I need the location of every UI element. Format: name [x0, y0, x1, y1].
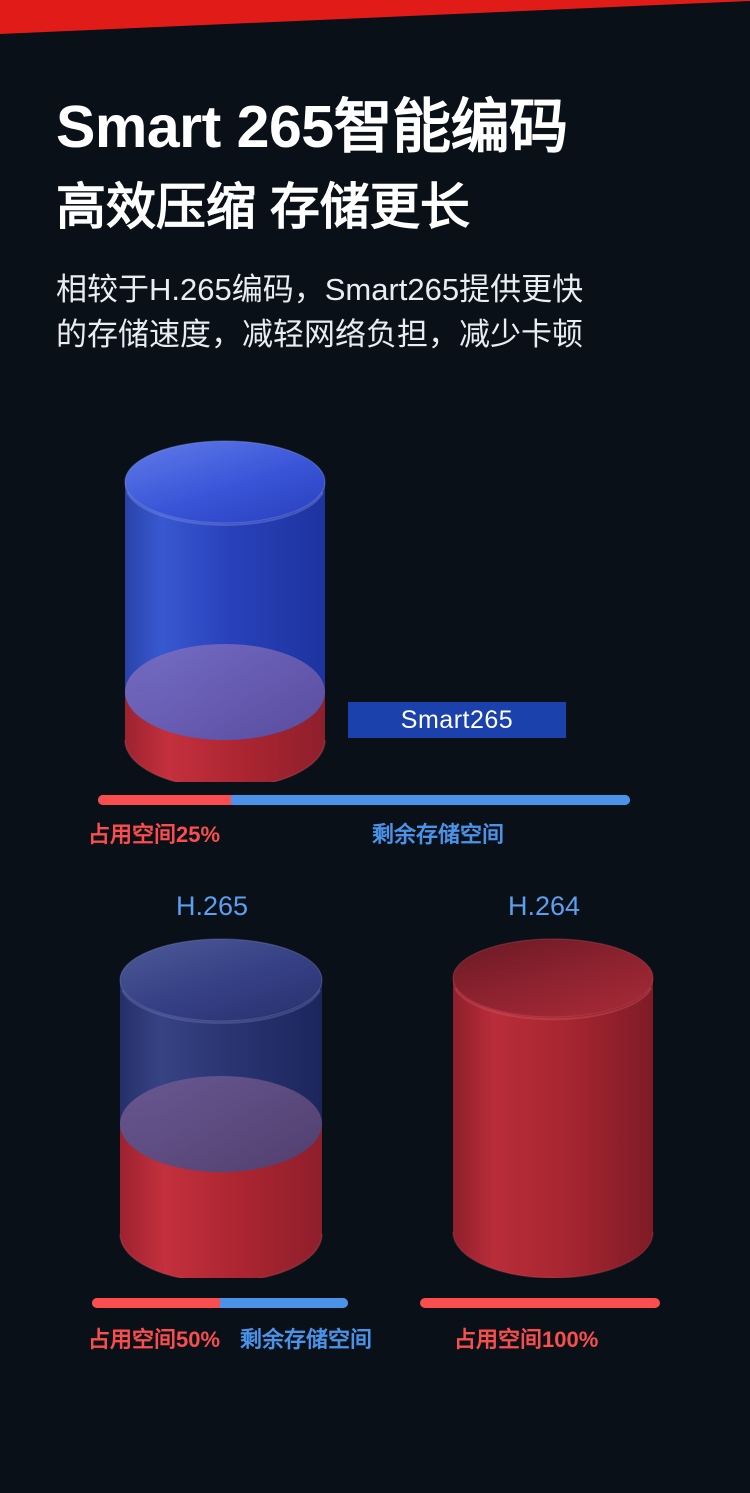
caption-used-h264: 占用空间100%: [454, 1329, 598, 1351]
caption-used-smart265: 占用空间25%: [88, 824, 220, 846]
promo-page: Smart 265智能编码 高效压缩 存储更长 相较于H.265编码，Smart…: [0, 0, 750, 1493]
progress-segment-free: [220, 1298, 348, 1308]
cylinder-h265: [118, 938, 324, 1278]
progress-segment-used: [98, 795, 231, 805]
progress-segment-used: [92, 1298, 220, 1308]
page-description: 相较于H.265编码，Smart265提供更快 的存储速度，减轻网络负担，减少卡…: [56, 268, 706, 358]
caption-free-h265: 剩余存储空间: [240, 1329, 372, 1351]
progress-bar-smart265: [98, 795, 630, 805]
label-h265: H.265: [176, 893, 248, 920]
badge-smart265: Smart265: [348, 702, 566, 738]
progress-bar-h265: [92, 1298, 348, 1308]
badge-smart265-label: Smart265: [401, 706, 513, 735]
caption-used-h265: 占用空间50%: [88, 1329, 220, 1351]
page-subtitle: 高效压缩 存储更长: [56, 182, 470, 232]
progress-segment-free: [231, 795, 630, 805]
progress-segment-used: [420, 1298, 660, 1308]
cylinder-h264: [452, 938, 654, 1278]
description-line-2: 的存储速度，减轻网络负担，减少卡顿: [56, 313, 706, 358]
top-red-banner: [0, 0, 750, 34]
caption-free-smart265: 剩余存储空间: [372, 824, 504, 846]
page-title: Smart 265智能编码: [56, 98, 568, 157]
label-h264: H.264: [508, 893, 580, 920]
description-line-1: 相较于H.265编码，Smart265提供更快: [56, 268, 706, 313]
progress-bar-h264: [420, 1298, 660, 1308]
cylinder-smart265: [124, 440, 326, 782]
